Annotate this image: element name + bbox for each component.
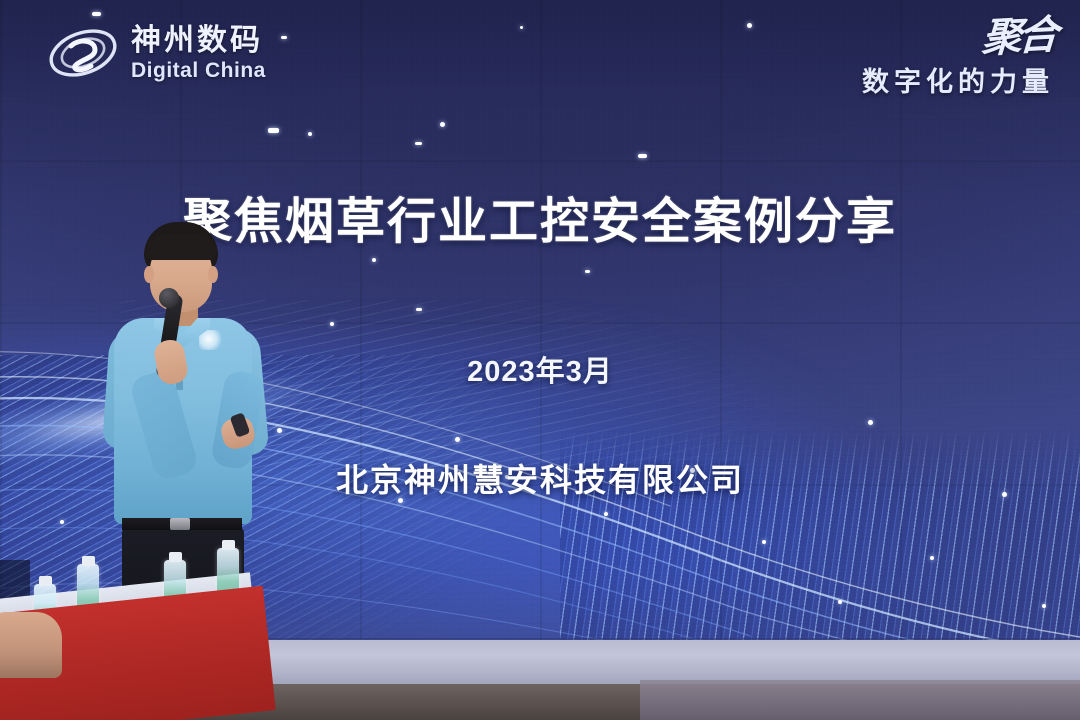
- particle-dot: [930, 556, 934, 560]
- digital-china-spiral-icon: [45, 22, 121, 84]
- event-tagline: 数字化的力量: [862, 60, 1054, 99]
- particle-dot: [1042, 604, 1046, 608]
- particle-dot: [838, 600, 842, 604]
- speaker-hair-front: [146, 234, 216, 260]
- particle-dot: [520, 26, 523, 29]
- digital-china-logo: 神州数码 Digital China: [45, 22, 266, 84]
- particle-dot: [440, 122, 445, 127]
- particle-dot: [92, 12, 101, 16]
- particle-dot: [281, 36, 287, 39]
- speaker-ear-left: [144, 266, 154, 283]
- speaker-ear-right: [208, 266, 218, 283]
- particle-dot: [308, 132, 312, 136]
- speaker-belt-buckle: [170, 518, 190, 530]
- event-logo: 聚合 数字化的力量: [862, 18, 1054, 99]
- bottle-cap: [39, 576, 52, 586]
- stage-photo: 神州数码 Digital China 聚合 数字化的力量 聚焦烟草行业工控安全案…: [0, 0, 1080, 720]
- particle-dot: [455, 437, 460, 442]
- particle-dot: [330, 322, 334, 326]
- particle-dot: [604, 512, 608, 516]
- floor-lower-right: [640, 680, 1080, 720]
- bottle-cap: [82, 556, 95, 566]
- bottle-cap: [169, 552, 182, 562]
- particle-dot: [868, 420, 873, 425]
- particle-dot: [762, 540, 766, 544]
- digital-china-name-cn: 神州数码: [131, 26, 266, 56]
- event-calligraphy: 聚合: [981, 16, 1055, 58]
- particle-dot: [638, 154, 647, 158]
- particle-dot: [415, 142, 422, 145]
- particle-dot: [60, 520, 64, 524]
- particle-dot: [747, 23, 752, 28]
- particle-dot: [268, 128, 279, 133]
- digital-china-name-en: Digital China: [131, 60, 266, 81]
- particle-dot: [416, 308, 422, 311]
- particle-dot: [585, 270, 590, 273]
- particle-dot: [277, 428, 282, 433]
- foreground-attendee: [0, 612, 62, 678]
- particle-dot: [372, 258, 376, 262]
- bottle-cap: [222, 540, 235, 550]
